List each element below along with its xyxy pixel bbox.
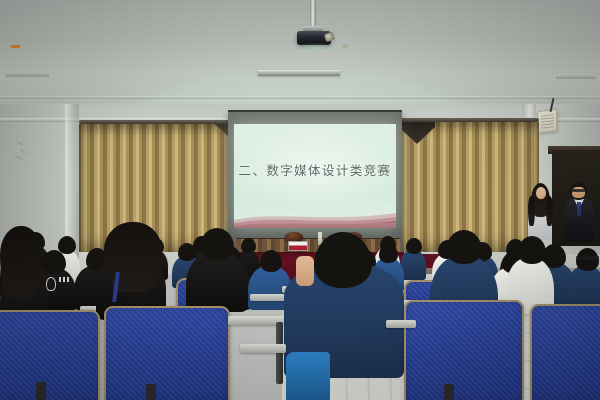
foreground-audience-long-hair <box>104 222 162 292</box>
wall-speaker-icon <box>537 109 557 133</box>
lecture-hall-photo: 二、数字媒体设计类竞赛 <box>0 0 600 400</box>
glasses-icon <box>576 256 599 260</box>
sling-bag-strap <box>286 352 330 400</box>
audience-head <box>58 236 76 254</box>
standing-woman-hair-strand <box>528 196 535 226</box>
desk-arm-post <box>276 322 283 384</box>
ceiling-vent-right <box>556 74 596 79</box>
seat-bracket <box>444 384 454 400</box>
audience-head <box>241 238 256 253</box>
projector-glow <box>288 43 344 52</box>
ceiling-vent-left <box>5 72 49 77</box>
wall-scuff-marks <box>14 140 36 164</box>
ac-power-indicator <box>11 45 20 48</box>
seat-bracket <box>146 384 156 400</box>
audience-head <box>379 244 398 263</box>
name-placard <box>288 241 308 251</box>
auditorium-seat[interactable] <box>104 306 230 400</box>
auditorium-seat[interactable] <box>530 304 600 400</box>
seat-bracket <box>36 382 46 400</box>
folding-desk-arm[interactable] <box>386 320 416 328</box>
tshirt-graphic <box>46 277 56 291</box>
standing-woman-hair-strand <box>546 196 553 226</box>
ceiling-fixture-spot <box>341 44 349 49</box>
ceiling-seam <box>0 96 600 99</box>
tshirt-graphic-text <box>59 277 71 282</box>
standing-man-tie <box>577 202 581 216</box>
audience-head <box>178 243 196 261</box>
foreground-audience-head <box>446 230 482 264</box>
foreground-audience-arm <box>296 256 314 286</box>
auditorium-seat[interactable] <box>0 310 100 400</box>
glasses-icon <box>572 189 585 192</box>
projection-screen: 二、数字媒体设计类竞赛 <box>234 124 396 228</box>
audience-head <box>406 238 422 254</box>
slide-bottom-band <box>234 223 396 228</box>
audience-head <box>260 250 282 272</box>
auditorium-seat[interactable] <box>404 300 524 400</box>
projector-mount-pole <box>310 0 316 28</box>
foreground-audience-long-hair <box>0 226 42 298</box>
ceiling-vent <box>258 70 340 76</box>
foreground-audience-body <box>186 252 248 312</box>
standing-woman-face <box>536 187 546 199</box>
slide-title: 二、数字媒体设计类竞赛 <box>234 160 396 179</box>
audience-head <box>42 250 66 274</box>
folding-desk-arm[interactable] <box>240 344 286 353</box>
foreground-audience-head <box>200 228 234 260</box>
foreground-audience-head <box>518 236 546 264</box>
